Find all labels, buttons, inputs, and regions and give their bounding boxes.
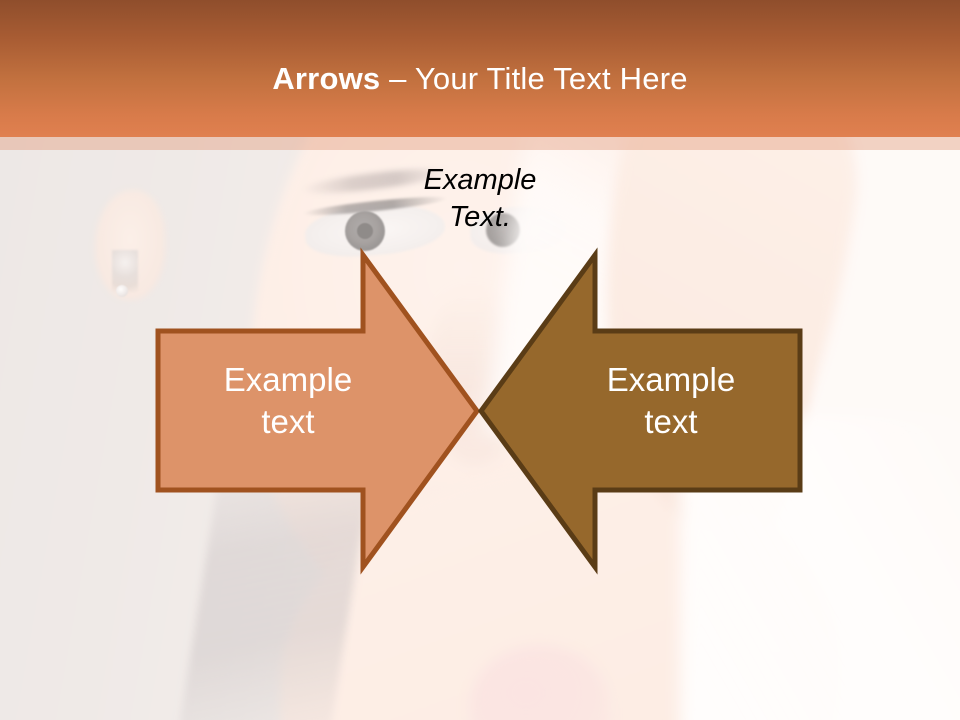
photo-pupil [357,223,373,239]
arrow-right-label: Example text [566,359,776,443]
arrow-left-label: Example text [183,359,393,443]
arrow-left[interactable]: Example text [155,251,480,571]
caption-text: Example Text. [383,162,577,236]
header-underband [0,137,960,150]
page-title: Arrows – Your Title Text Here [272,63,687,94]
page-title-bold: Arrows [272,61,380,96]
page-title-rest: – Your Title Text Here [380,61,687,96]
header-banner: Arrows – Your Title Text Here [0,0,960,137]
slide-canvas: Arrows – Your Title Text Here Example Te… [0,0,960,720]
photo-earring-stud [116,285,128,297]
arrow-right[interactable]: Example text [478,251,803,571]
